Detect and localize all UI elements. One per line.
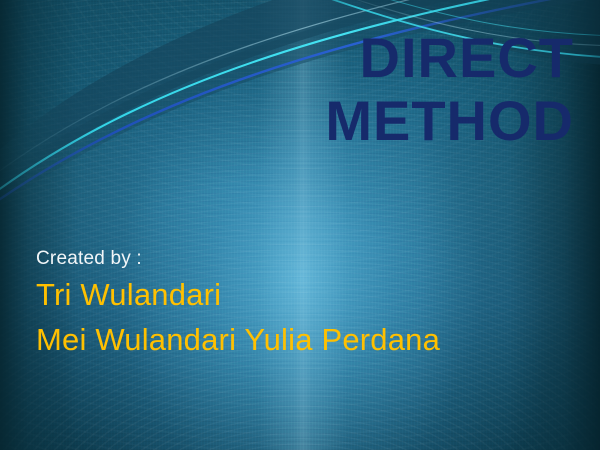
slide-title-line-1: DIRECT (0, 26, 574, 89)
slide-byline: Created by : Tri Wulandari Mei Wulandari… (36, 246, 440, 362)
slide-title-line-2: METHOD (0, 89, 574, 152)
author-name-1: Tri Wulandari (36, 272, 440, 317)
presentation-slide: DIRECT METHOD Created by : Tri Wulandari… (0, 0, 600, 450)
author-name-2: Mei Wulandari Yulia Perdana (36, 317, 440, 362)
created-by-label: Created by : (36, 246, 440, 272)
slide-title: DIRECT METHOD (0, 26, 574, 152)
